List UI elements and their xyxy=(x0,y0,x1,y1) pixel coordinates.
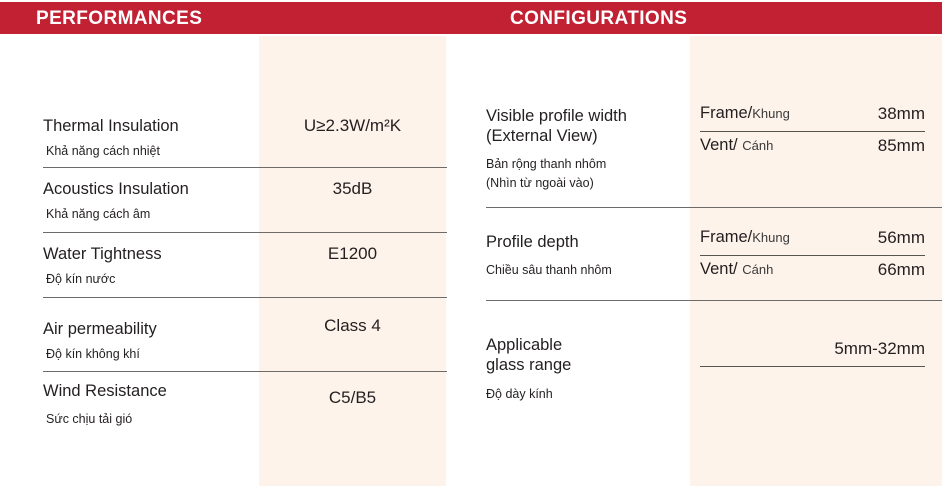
config-item-key: Frame/Khung xyxy=(700,104,790,123)
section-label-vi-line1: Chiều sâu thanh nhôm xyxy=(486,262,612,279)
row-label-en: Acoustics Insulation xyxy=(43,179,189,199)
row-divider xyxy=(43,232,447,233)
config-item-key-en: Vent/ xyxy=(700,136,738,154)
row-label-vi: Độ kín không khí xyxy=(46,346,140,363)
configurations-heading: CONFIGURATIONS xyxy=(510,8,687,30)
section-label-en-line1: Profile depth xyxy=(486,232,579,252)
row-label-en: Thermal Insulation xyxy=(43,116,179,136)
config-item-key: Frame/Khung xyxy=(700,228,790,247)
config-item-value: 85mm xyxy=(796,136,925,156)
row-label-vi: Khả năng cách âm xyxy=(46,206,150,223)
section-label-en-line2: (External View) xyxy=(486,126,598,146)
config-item-divider xyxy=(700,131,925,132)
config-item-key-en: Frame/ xyxy=(700,228,752,246)
config-item-key-vi: Cánh xyxy=(742,262,773,277)
config-item-key: Vent/ Cánh xyxy=(700,260,773,279)
row-label-en: Water Tightness xyxy=(43,244,162,264)
config-item-key: Vent/ Cánh xyxy=(700,136,773,155)
section-label-en-line2: glass range xyxy=(486,355,571,375)
row-value: E1200 xyxy=(259,244,446,264)
row-label-en: Air permeability xyxy=(43,319,157,339)
row-value: Class 4 xyxy=(259,316,446,336)
row-label-vi: Khả năng cách nhiệt xyxy=(46,143,160,160)
config-item-key-vi: Khung xyxy=(752,106,790,121)
config-item-key-en: Frame/ xyxy=(700,104,752,122)
row-label-en: Wind Resistance xyxy=(43,381,167,401)
row-divider xyxy=(43,297,447,298)
section-label-vi-line1: Bản rộng thanh nhôm xyxy=(486,156,606,173)
config-item-key-vi: Cánh xyxy=(742,138,773,153)
section-label-vi-line2: (Nhìn từ ngoài vào) xyxy=(486,175,594,192)
section-label-en-line1: Applicable xyxy=(486,335,562,355)
config-item-key-vi: Khung xyxy=(752,230,790,245)
config-item-divider xyxy=(700,255,925,256)
section-label-en-line1: Visible profile width xyxy=(486,106,627,126)
section-divider xyxy=(486,207,942,208)
section-divider xyxy=(486,300,942,301)
config-item-value: 66mm xyxy=(796,260,925,280)
row-divider xyxy=(43,371,447,372)
row-label-vi: Độ kín nước xyxy=(46,271,115,288)
config-item-value: 5mm-32mm xyxy=(700,339,925,359)
config-item-key-en: Vent/ xyxy=(700,260,738,278)
config-item-value: 56mm xyxy=(796,228,925,248)
row-value: U≥2.3W/m²K xyxy=(259,116,446,136)
row-value: C5/B5 xyxy=(259,388,446,408)
row-label-vi: Sức chịu tải gió xyxy=(46,411,132,428)
row-value: 35dB xyxy=(259,179,446,199)
section-label-vi-line1: Độ dày kính xyxy=(486,386,553,403)
config-item-value: 38mm xyxy=(796,104,925,124)
config-item-divider xyxy=(700,366,925,367)
row-divider xyxy=(43,167,447,168)
performances-heading: PERFORMANCES xyxy=(36,8,202,30)
